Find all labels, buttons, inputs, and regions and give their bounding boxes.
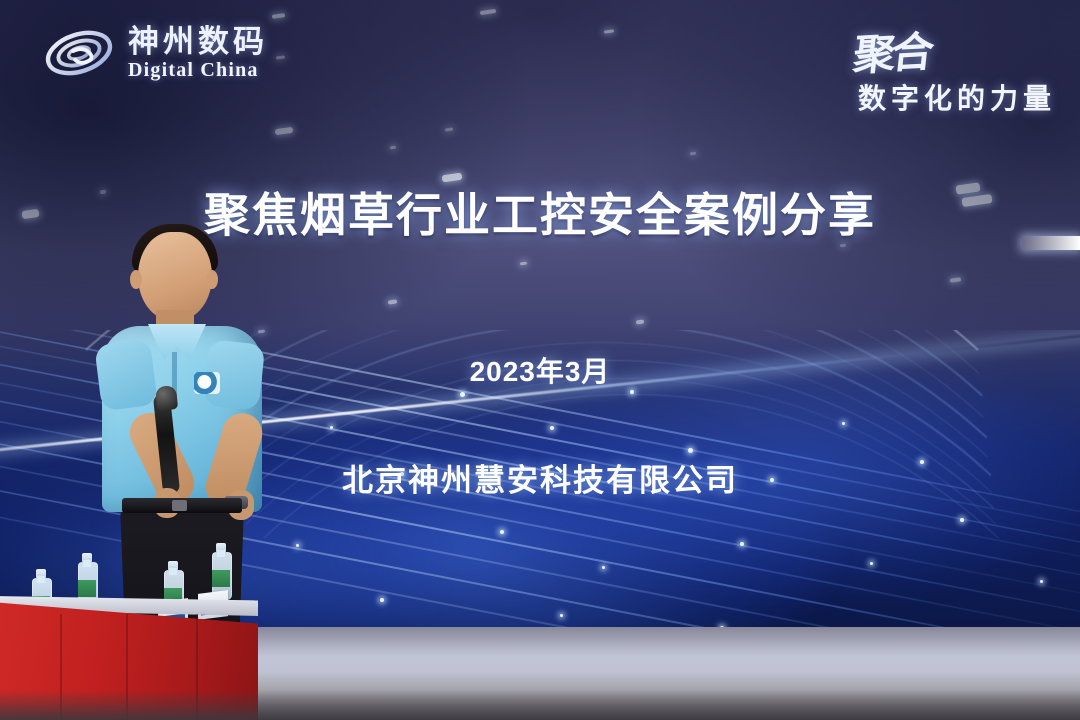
presenter: [96, 226, 276, 626]
digital-china-logo: 神州数码 Digital China: [40, 22, 268, 84]
microphone-head-icon: [155, 385, 178, 411]
slide-accent-bar: [1022, 236, 1080, 250]
logo-chinese-text: 神州数码: [128, 26, 268, 57]
event-tagline: 数字化的力量: [854, 77, 1056, 117]
presenter-belt-buckle: [172, 500, 187, 511]
presenter-ear-left: [130, 270, 142, 289]
presenter-ear-right: [206, 270, 218, 289]
bottle-neck: [217, 550, 225, 557]
event-calligraphy: 聚合: [850, 18, 933, 83]
bottle-label: [78, 580, 96, 597]
bottle-neck: [37, 576, 45, 583]
shirt-logo-badge: [194, 372, 220, 394]
event-brand: 聚合 数字化的力量: [854, 20, 1056, 117]
bottle-label: [212, 570, 230, 587]
foreground-bottom-shade: [0, 690, 1080, 720]
logo-english-text: Digital China: [128, 60, 268, 80]
presenter-sleeve-left: [94, 339, 158, 411]
digital-china-swirl-logo-icon: [40, 22, 118, 84]
bottle-neck: [83, 560, 91, 567]
bottle-neck: [169, 568, 177, 575]
presenter-head: [138, 232, 212, 320]
conference-stage-photo: 神州数码 Digital China 聚合 数字化的力量 聚焦烟草行业工控安全案…: [0, 0, 1080, 720]
